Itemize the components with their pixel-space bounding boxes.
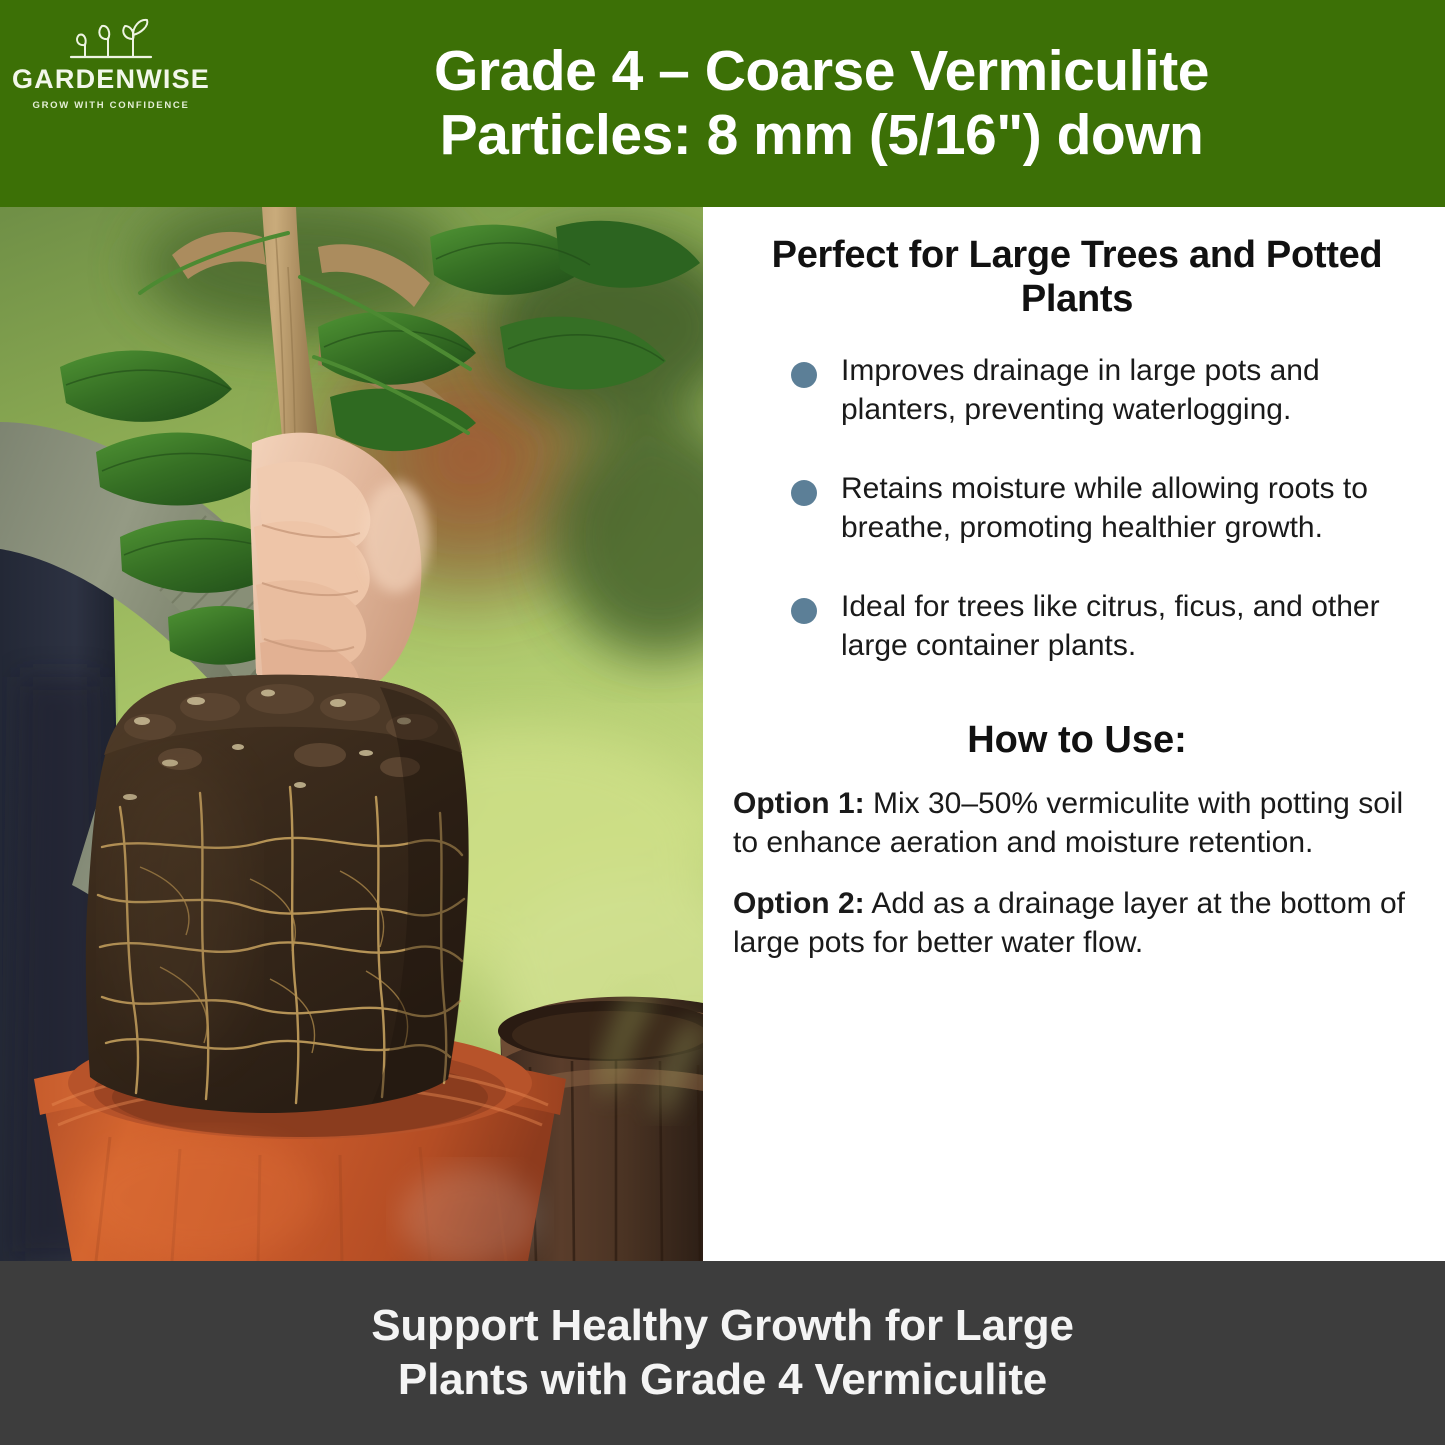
- list-item: Improves drainage in large pots and plan…: [733, 351, 1421, 429]
- header-title-line2: Particles: 8 mm (5/16") down: [222, 104, 1421, 168]
- bullet-dot-icon: [791, 598, 817, 624]
- content-row: Perfect for Large Trees and Potted Plant…: [0, 207, 1445, 1261]
- option-2-label: Option 2:: [733, 887, 865, 920]
- photo-illustration: [0, 207, 703, 1261]
- bullet-text: Ideal for trees like citrus, ficus, and …: [841, 587, 1421, 665]
- how-to-use-heading: How to Use:: [733, 719, 1421, 762]
- list-item: Ideal for trees like citrus, ficus, and …: [733, 587, 1421, 665]
- footer-line-2: Plants with Grade 4 Vermiculite: [371, 1353, 1074, 1407]
- footer-banner: Support Healthy Growth for Large Plants …: [0, 1261, 1445, 1445]
- bullet-dot-icon: [791, 362, 817, 388]
- benefits-panel: Perfect for Large Trees and Potted Plant…: [703, 207, 1445, 1261]
- brand-name: GARDENWISE: [12, 66, 210, 93]
- product-infographic: GARDENWISE GROW WITH CONFIDENCE Grade 4 …: [0, 0, 1445, 1445]
- list-item: Retains moisture while allowing roots to…: [733, 469, 1421, 547]
- brand-logo: GARDENWISE GROW WITH CONFIDENCE: [0, 10, 222, 111]
- footer-text: Support Healthy Growth for Large Plants …: [371, 1299, 1074, 1406]
- option-1-label: Option 1:: [733, 787, 865, 820]
- header-title-group: Grade 4 – Coarse Vermiculite Particles: …: [222, 40, 1445, 168]
- usage-option-1: Option 1: Mix 30–50% vermiculite with po…: [733, 784, 1421, 862]
- header-banner: GARDENWISE GROW WITH CONFIDENCE Grade 4 …: [0, 0, 1445, 207]
- bullet-text: Retains moisture while allowing roots to…: [841, 469, 1421, 547]
- header-title-line1: Grade 4 – Coarse Vermiculite: [222, 40, 1421, 104]
- product-photo: [0, 207, 703, 1261]
- usage-option-2: Option 2: Add as a drainage layer at the…: [733, 884, 1421, 962]
- brand-tagline: GROW WITH CONFIDENCE: [33, 100, 190, 111]
- three-sprouts-icon: [63, 16, 159, 64]
- panel-heading: Perfect for Large Trees and Potted Plant…: [733, 233, 1421, 321]
- bullet-text: Improves drainage in large pots and plan…: [841, 351, 1421, 429]
- bullet-dot-icon: [791, 480, 817, 506]
- benefits-list: Improves drainage in large pots and plan…: [733, 351, 1421, 665]
- footer-line-1: Support Healthy Growth for Large: [371, 1299, 1074, 1353]
